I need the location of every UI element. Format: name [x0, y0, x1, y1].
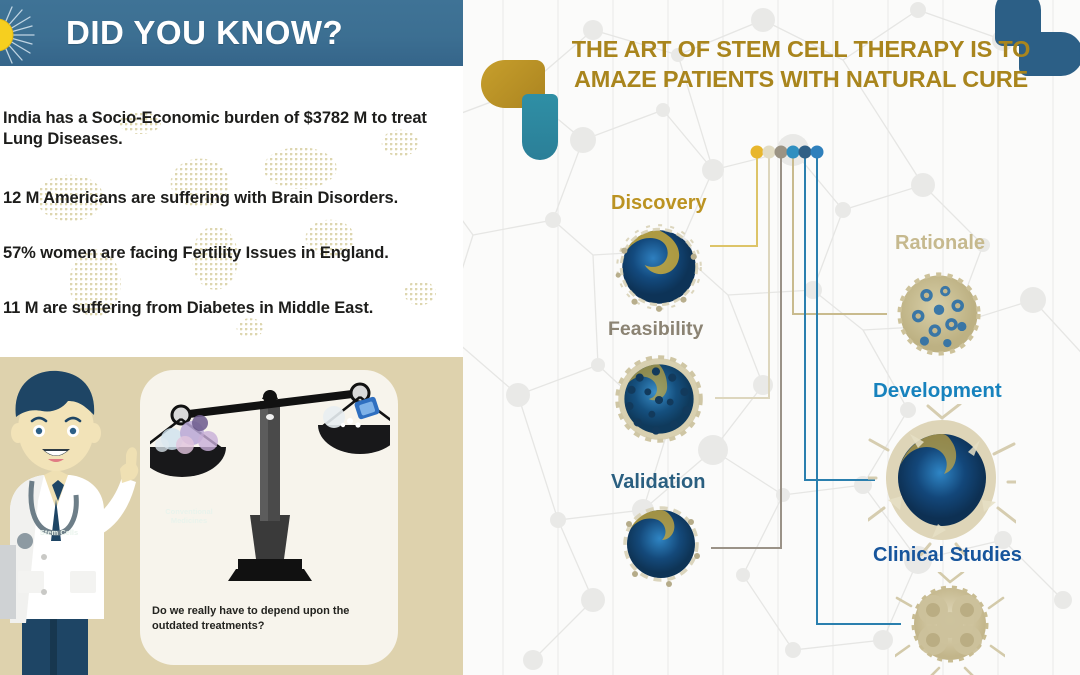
scale-pan-label-stem-cells: Stem Cells — [28, 528, 90, 537]
slide-canvas: DID YOU KNOW? India has a Socio-Economic… — [0, 0, 1080, 675]
stage-dots-row — [463, 0, 1080, 675]
dot-clinical-studies — [811, 146, 824, 159]
dot-feasibility — [763, 146, 776, 159]
fact-item-2: 12 M Americans are suffering with Brain … — [3, 188, 463, 209]
dot-rationale — [787, 146, 800, 159]
facts-list: India has a Socio-Economic burden of $37… — [3, 108, 463, 354]
left-info-panel: DID YOU KNOW? India has a Socio-Economic… — [0, 0, 463, 675]
scale-pan-label-conventional: Conventional Medicines — [152, 507, 226, 525]
dot-validation — [775, 146, 788, 159]
banner-title: DID YOU KNOW? — [66, 14, 343, 52]
sun-idea-icon — [0, 6, 46, 64]
did-you-know-banner: DID YOU KNOW? — [0, 0, 463, 66]
dot-discovery — [751, 146, 764, 159]
illustration-block: Stem Cells Conventional Medicines Do we … — [0, 357, 463, 675]
dot-development — [799, 146, 812, 159]
balance-scale — [150, 375, 390, 601]
fact-item-1: India has a Socio-Economic burden of $37… — [3, 108, 463, 150]
cartoon-doctor-pointing — [0, 359, 158, 675]
fact-item-4: 11 M are suffering from Diabetes in Midd… — [3, 298, 463, 319]
scale-caption: Do we really have to depend upon the out… — [152, 604, 392, 633]
right-process-panel: THE ART OF STEM CELL THERAPY IS TO AMAZE… — [463, 0, 1080, 675]
fact-item-3: 57% women are facing Fertility Issues in… — [3, 243, 463, 264]
